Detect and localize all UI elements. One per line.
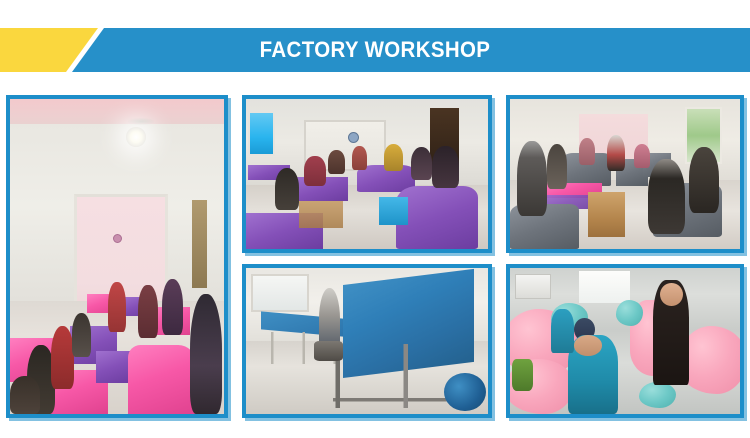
gallery-photo-1[interactable] — [6, 95, 228, 418]
gallery-photo-2[interactable] — [242, 95, 492, 253]
scene-side-door — [192, 200, 207, 288]
wall-clock-icon — [348, 132, 359, 143]
worker-figure — [607, 135, 625, 171]
worker-figure — [304, 156, 326, 186]
scene-window — [579, 271, 630, 303]
ceiling-lamp — [126, 127, 146, 147]
page-header-banner: FACTORY WORKSHOP — [0, 28, 750, 72]
worker-figure — [138, 285, 157, 339]
storage-bin — [379, 197, 408, 226]
table-leg — [299, 201, 343, 228]
worker-figure — [162, 279, 183, 336]
gallery-photo-4[interactable] — [242, 264, 492, 418]
worker-head — [660, 283, 683, 306]
worker-figure — [648, 159, 685, 234]
worker-figure — [551, 309, 574, 353]
worker-figure — [579, 138, 595, 165]
gallery-photo-5[interactable] — [506, 264, 744, 418]
ceiling-fixture — [128, 118, 154, 125]
worker-figure — [634, 144, 650, 168]
worker-figure — [432, 146, 459, 188]
gallery-photo-3[interactable] — [506, 95, 744, 253]
worker-figure — [328, 150, 345, 174]
sewing-table — [96, 351, 130, 383]
cutter-head — [314, 341, 343, 361]
photo-4-image — [246, 268, 488, 414]
garment-stack — [128, 345, 196, 414]
photo-1-image — [10, 99, 224, 414]
factory-photo-gallery — [0, 92, 750, 422]
worker-figure — [547, 144, 568, 189]
photo-2-image — [246, 99, 488, 249]
photo-3-image — [510, 99, 740, 249]
worker-figure — [190, 294, 222, 414]
worker-figure — [108, 282, 125, 332]
photo-5-image — [510, 268, 740, 414]
worker-figure — [51, 326, 75, 389]
teal-garment-pile — [639, 382, 676, 408]
worker-figure — [411, 147, 433, 180]
container-object — [512, 359, 533, 391]
scene-ceiling — [10, 99, 224, 127]
worker-head — [574, 335, 602, 355]
cardboard-carton — [588, 192, 625, 237]
worker-figure — [72, 313, 91, 357]
fabric-roll — [444, 373, 485, 411]
scene-window — [251, 274, 309, 312]
worker-figure — [275, 168, 299, 210]
air-conditioner — [515, 274, 552, 299]
garment-stack — [396, 186, 478, 249]
worker-figure — [384, 144, 403, 171]
worker-figure — [352, 146, 367, 170]
worker-figure — [10, 376, 40, 414]
scene-window — [248, 111, 275, 156]
page-title: FACTORY WORKSHOP — [26, 28, 724, 72]
worker-figure — [689, 147, 719, 213]
worker-figure — [517, 141, 547, 216]
